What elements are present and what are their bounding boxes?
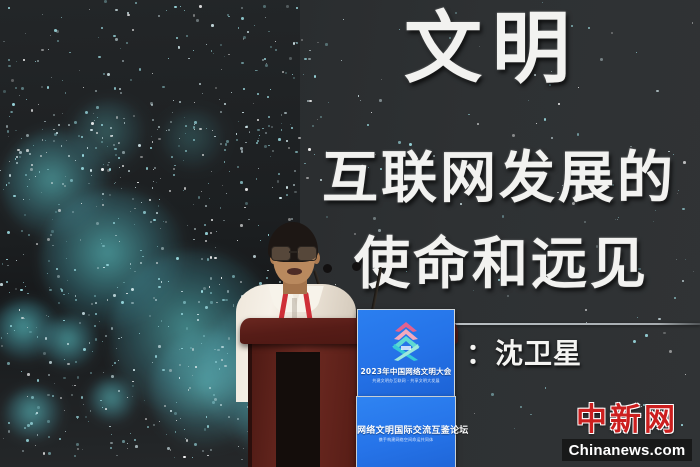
forum-sign-title: 网络文明国际交流互鉴论坛 [357, 423, 455, 436]
watermark-site-text: Chinanews.com [569, 442, 686, 459]
headline-line-3: 使命和远见 [354, 234, 649, 296]
nebula-blob [4, 388, 66, 440]
watermark: 中新网 Chinanews.com [562, 395, 692, 461]
speaker-mouth [287, 268, 302, 275]
lens-left [271, 246, 291, 261]
nebula-blob [40, 316, 102, 368]
podium-sign-conference: 2023年中国网络文明大会 共建文明办互联网 · 共享文明大发展 [357, 309, 455, 397]
forum-sign-subtitle: 携手构建网络空间命运共同体 [357, 437, 455, 443]
headline-main: 文明 [404, 6, 580, 92]
nebula-blob [88, 378, 140, 422]
podium-front-recess [276, 352, 320, 467]
eyeglasses-icon [271, 246, 317, 259]
screenshot-root: 文明 互联网发展的 使命和远见 ：沈卫星 [0, 0, 700, 467]
nebula-blob [160, 110, 230, 170]
podium-sign-forum: 网络文明国际交流互鉴论坛 携手构建网络空间命运共同体 [356, 396, 456, 467]
conference-sign-title: 2023年中国网络文明大会 [358, 366, 454, 377]
watermark-bar: Chinanews.com [562, 439, 692, 461]
lens-right [297, 246, 317, 261]
screen-speaker-name: ：沈卫星 [466, 332, 582, 372]
nebula-blob [70, 100, 150, 170]
conference-sign-subtitle: 共建文明办互联网 · 共享文明大发展 [358, 378, 454, 384]
chinanews-logo: 中新网 [566, 395, 688, 437]
star-pagoda-emblem [387, 320, 425, 362]
headline-line-2: 互联网发展的 [322, 148, 676, 210]
